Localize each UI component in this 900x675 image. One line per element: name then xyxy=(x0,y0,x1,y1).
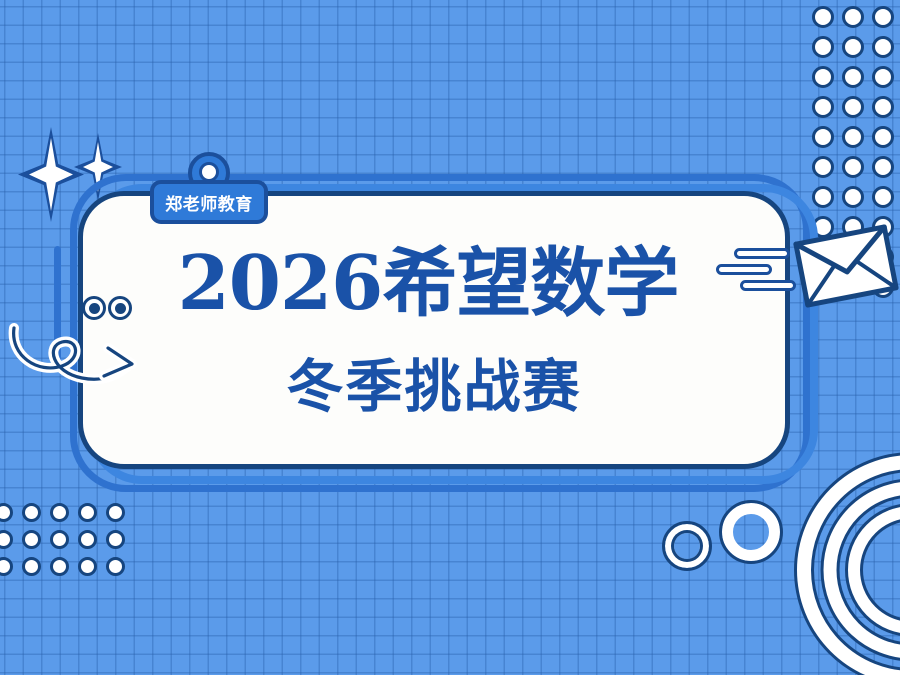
dot xyxy=(106,557,125,576)
dot xyxy=(872,66,894,88)
dot xyxy=(842,186,864,208)
curved-arrow-icon xyxy=(4,318,149,396)
dot xyxy=(842,96,864,118)
dot xyxy=(812,156,834,178)
motion-line xyxy=(740,280,796,291)
sparkle-inner xyxy=(29,138,73,211)
tag-hole-icon xyxy=(199,162,219,182)
brand-badge: 郑老师教育 xyxy=(150,152,268,224)
circle-outline-icon xyxy=(665,524,709,568)
pupil xyxy=(115,303,126,314)
dot xyxy=(812,126,834,148)
circle-inner-edge xyxy=(671,530,703,562)
eye-left xyxy=(82,296,106,320)
dot xyxy=(0,503,13,522)
dot xyxy=(842,6,864,28)
dot xyxy=(872,36,894,58)
dot xyxy=(22,557,41,576)
dot xyxy=(22,530,41,549)
dot-grid-icon xyxy=(0,503,125,576)
dot xyxy=(812,186,834,208)
dot xyxy=(872,6,894,28)
dot xyxy=(872,96,894,118)
dot xyxy=(842,156,864,178)
dot xyxy=(0,557,13,576)
eye-right xyxy=(108,296,132,320)
badge-plate: 郑老师教育 xyxy=(150,180,268,224)
concentric-arcs-icon xyxy=(784,452,900,675)
dot xyxy=(842,126,864,148)
dot xyxy=(78,530,97,549)
dot xyxy=(22,503,41,522)
dot xyxy=(50,530,69,549)
dot xyxy=(872,186,894,208)
dot xyxy=(872,156,894,178)
pupil xyxy=(89,303,100,314)
motion-line xyxy=(734,248,790,259)
circle-outline-icon xyxy=(722,503,780,561)
badge-label: 郑老师教育 xyxy=(165,190,253,215)
dot xyxy=(106,530,125,549)
dot xyxy=(78,503,97,522)
dot xyxy=(812,66,834,88)
eyes-icon xyxy=(82,296,132,320)
dot xyxy=(812,6,834,28)
dot xyxy=(872,126,894,148)
dot xyxy=(78,557,97,576)
motion-line xyxy=(716,264,772,275)
dot xyxy=(812,36,834,58)
dot xyxy=(842,66,864,88)
dot xyxy=(106,503,125,522)
dot xyxy=(50,503,69,522)
main-card xyxy=(78,191,790,469)
dot xyxy=(842,36,864,58)
dot xyxy=(812,96,834,118)
dot xyxy=(50,557,69,576)
poster-canvas: 郑老师教育 2026希望数学 冬季挑战赛 xyxy=(0,0,900,675)
dot xyxy=(0,530,13,549)
